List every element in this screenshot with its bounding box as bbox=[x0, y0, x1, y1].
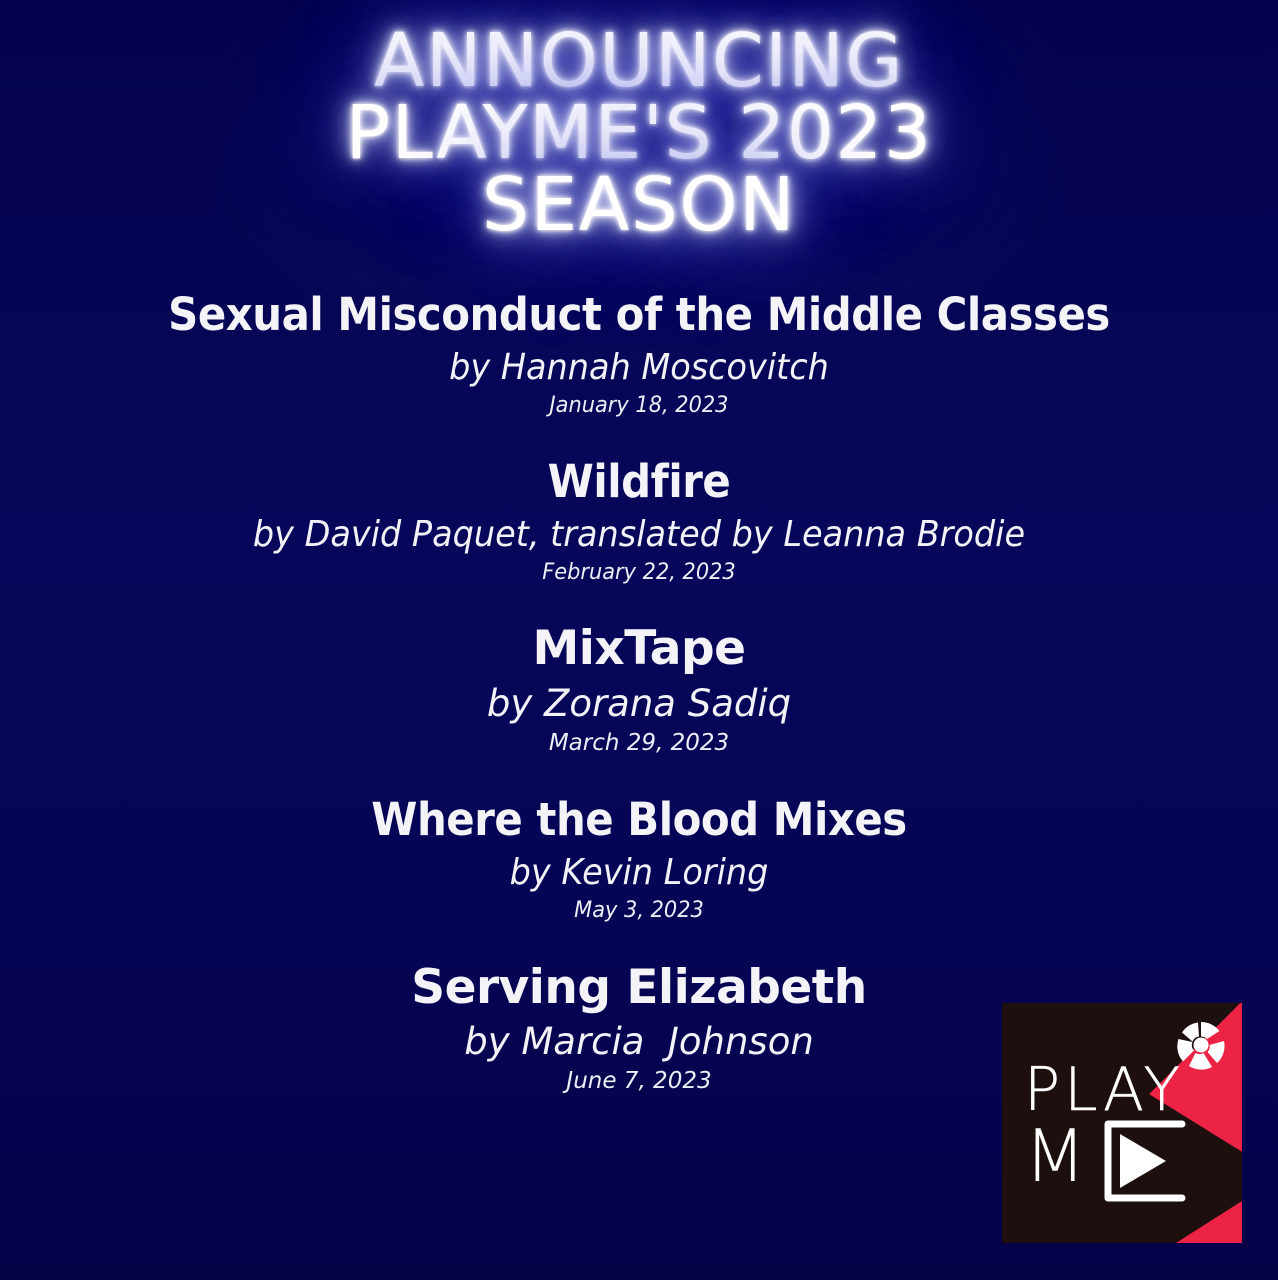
play-entry: Where the Blood Mixes by Kevin Loring Ma… bbox=[0, 793, 1278, 926]
play-title: Where the Blood Mixes bbox=[45, 793, 1234, 846]
play-author: by Zorana Sadiq bbox=[0, 681, 1278, 727]
season-list: Sexual Misconduct of the Middle Classes … bbox=[0, 288, 1278, 1097]
poster-canvas: ANNOUNCING PLAYME'S 2023 SEASON Sexual M… bbox=[0, 0, 1278, 1280]
play-title: Sexual Misconduct of the Middle Classes bbox=[45, 288, 1234, 341]
play-author: by Hannah Moscovitch bbox=[45, 345, 1234, 390]
play-entry: Wildfire by David Paquet, translated by … bbox=[0, 455, 1278, 588]
play-triangle-icon bbox=[1120, 1134, 1166, 1188]
play-title: MixTape bbox=[0, 621, 1278, 676]
logo-wordmark: PLAY M bbox=[1024, 1063, 1224, 1204]
play-date: May 3, 2023 bbox=[32, 897, 1246, 926]
playme-logo[interactable]: PLAY M bbox=[1002, 1003, 1242, 1243]
logo-play-text: PLAY bbox=[1024, 1063, 1224, 1118]
red-corner-shape bbox=[1176, 1201, 1242, 1243]
headline-container: ANNOUNCING PLAYME'S 2023 SEASON bbox=[0, 26, 1278, 241]
play-author: by David Paquet, translated by Leanna Br… bbox=[45, 512, 1234, 557]
poster-headline: ANNOUNCING PLAYME'S 2023 SEASON bbox=[319, 26, 959, 241]
play-title: Wildfire bbox=[45, 455, 1234, 508]
play-entry: Sexual Misconduct of the Middle Classes … bbox=[0, 288, 1278, 421]
play-entry: MixTape by Zorana Sadiq March 29, 2023 bbox=[0, 621, 1278, 759]
play-date: January 18, 2023 bbox=[32, 392, 1246, 421]
logo-me-text: M bbox=[1024, 1114, 1088, 1198]
play-date: March 29, 2023 bbox=[0, 729, 1278, 759]
play-author: by Kevin Loring bbox=[45, 850, 1234, 895]
play-date: February 22, 2023 bbox=[32, 559, 1246, 588]
logo-me-row: M bbox=[1024, 1120, 1224, 1204]
